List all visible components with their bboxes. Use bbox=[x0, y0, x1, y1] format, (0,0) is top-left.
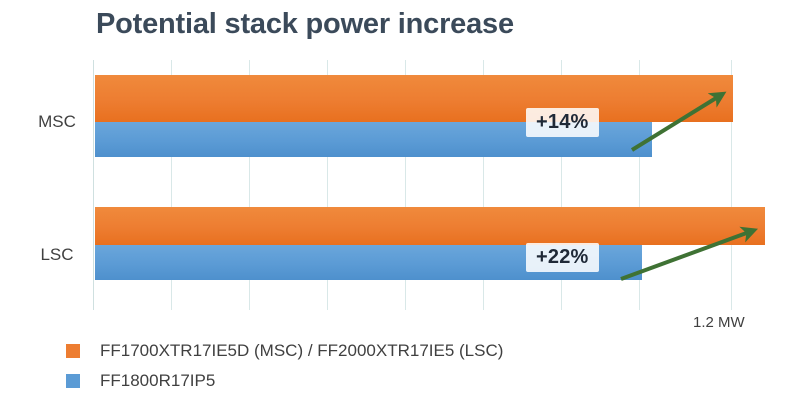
legend-swatch-icon-blue bbox=[66, 374, 80, 388]
data-label-msc: +14% bbox=[526, 108, 599, 137]
bar-msc-series-orange bbox=[95, 75, 733, 122]
chart-container: Potential stack power increase MSC LSC +… bbox=[0, 0, 795, 406]
category-label-msc: MSC bbox=[28, 112, 86, 132]
plot-area bbox=[93, 60, 795, 310]
legend-label-1: FF1800R17IP5 bbox=[100, 371, 215, 391]
category-label-lsc: LSC bbox=[28, 245, 86, 265]
legend-label-0: FF1700XTR17IE5D (MSC) / FF2000XTR17IE5 (… bbox=[100, 341, 503, 361]
chart-title: Potential stack power increase bbox=[96, 8, 514, 41]
chart-legend: FF1700XTR17IE5D (MSC) / FF2000XTR17IE5 (… bbox=[66, 336, 503, 396]
legend-item-0: FF1700XTR17IE5D (MSC) / FF2000XTR17IE5 (… bbox=[66, 336, 503, 366]
axis-unit-label: 1.2 MW bbox=[693, 314, 745, 331]
data-label-lsc: +22% bbox=[526, 243, 599, 272]
legend-swatch-icon-orange bbox=[66, 344, 80, 358]
bar-lsc-series-orange bbox=[95, 207, 765, 245]
gridline-axis bbox=[93, 60, 94, 310]
legend-item-1: FF1800R17IP5 bbox=[66, 366, 503, 396]
